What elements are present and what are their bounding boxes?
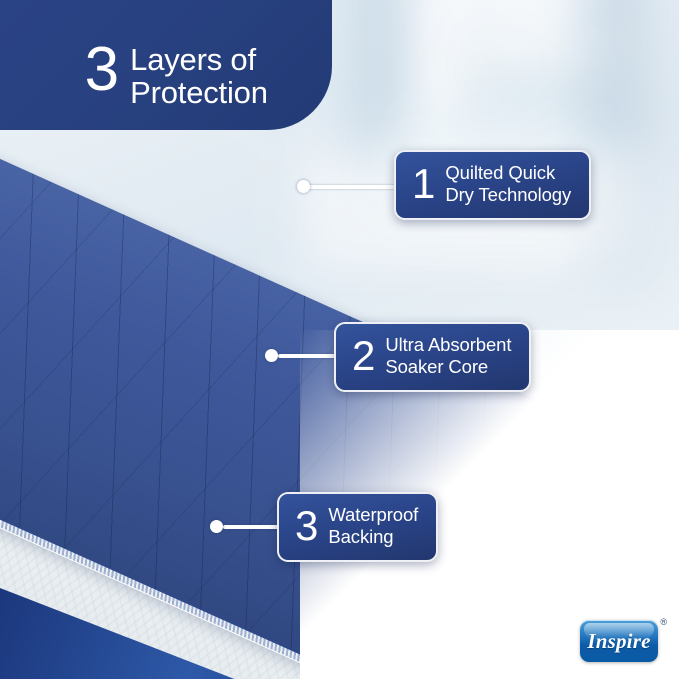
connector-dot-2	[265, 349, 278, 362]
registered-trademark-icon: ®	[660, 617, 667, 627]
header-panel: 3Layers of Protection	[0, 0, 332, 130]
callout-ultra-absorbent-soaker-core: 2 Ultra Absorbent Soaker Core	[334, 322, 531, 392]
brand-logo: Inspire ®	[580, 620, 658, 662]
callout-label-3: Waterproof Backing	[328, 504, 418, 548]
callout-label-1: Quilted Quick Dry Technology	[445, 162, 571, 206]
callout-number-3: 3	[295, 507, 317, 545]
header-number: 3	[85, 41, 118, 100]
page-title: 3Layers of Protection	[58, 26, 268, 125]
connector-dot-1	[297, 180, 310, 193]
connector-line-2	[278, 354, 338, 358]
connector-dot-3	[210, 520, 223, 533]
callout-waterproof-backing: 3 Waterproof Backing	[277, 492, 438, 562]
callout-quilted-quick-dry: 1 Quilted Quick Dry Technology	[394, 150, 591, 220]
callout-number-2: 2	[352, 337, 374, 375]
connector-line-3	[223, 525, 281, 529]
connector-line-1	[308, 185, 398, 189]
product-feature-graphic: 3Layers of Protection 1 Quilted Quick Dr…	[0, 0, 679, 679]
callout-label-2: Ultra Absorbent Soaker Core	[385, 334, 511, 378]
header-words: Layers of Protection	[130, 41, 268, 110]
callout-number-1: 1	[412, 165, 434, 203]
background-shape	[460, 0, 590, 14]
logo-wordmark: Inspire	[580, 620, 658, 662]
